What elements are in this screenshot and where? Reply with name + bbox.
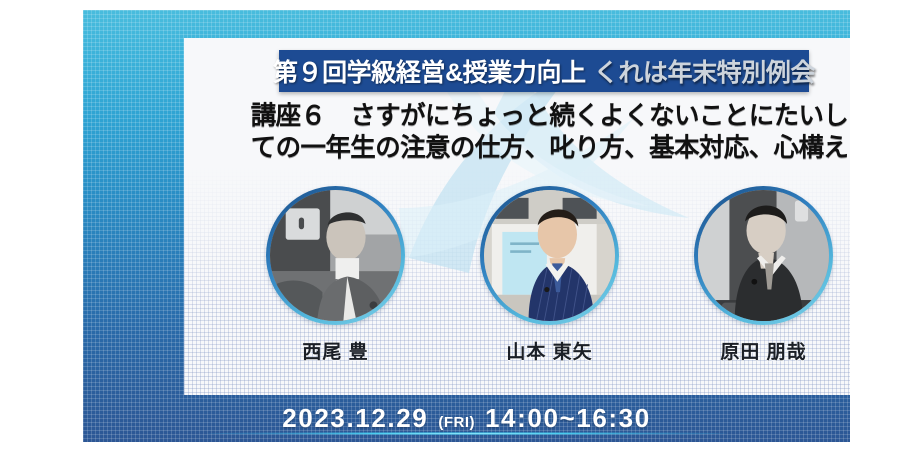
speaker-photo-ring-3 xyxy=(694,186,833,325)
speaker-name-2: 山本 東矢 xyxy=(506,337,592,364)
session-headline-line-1: 講座６ さすがにちょっと続くよくないことにたいし xyxy=(192,100,850,132)
speaker-photo-ring-1 xyxy=(266,186,405,325)
speaker-name-1: 西尾 豊 xyxy=(302,337,368,364)
session-headline: 講座６ さすがにちょっと続くよくないことにたいし ての一年生の注意の仕方、叱り方… xyxy=(184,100,850,165)
speaker-photo-1 xyxy=(270,190,401,321)
speaker-list: 西尾 豊 xyxy=(184,186,850,364)
speaker-name-3: 原田 朋哉 xyxy=(720,337,806,364)
schedule-time: 14:00~16:30 xyxy=(485,403,651,434)
event-title-sub: くれは年末特別例会 xyxy=(594,53,815,89)
speaker-card-2: 山本 東矢 xyxy=(476,186,624,364)
content-panel: 第９回学級経営&授業力向上 くれは年末特別例会 講座６ さすがにちょっと続くよく… xyxy=(184,38,850,395)
speaker-card-1: 西尾 豊 xyxy=(262,186,410,364)
speaker-card-3: 原田 朋哉 xyxy=(690,186,838,364)
speaker-photo-3 xyxy=(698,190,829,321)
speaker-photo-ring-2 xyxy=(480,186,619,325)
schedule-weekday: (FRI) xyxy=(438,414,475,431)
event-title-ribbon: 第９回学級経営&授業力向上 くれは年末特別例会 xyxy=(279,50,809,92)
schedule-date: 2023.12.29 xyxy=(282,403,428,434)
speaker-photo-2 xyxy=(484,190,615,321)
schedule-band: 2023.12.29 (FRI) 14:00~16:30 xyxy=(83,395,850,442)
poster-frame: 第９回学級経営&授業力向上 くれは年末特別例会 講座６ さすがにちょっと続くよく… xyxy=(83,10,850,442)
poster-stage: 第９回学級経営&授業力向上 くれは年末特別例会 講座６ さすがにちょっと続くよく… xyxy=(0,0,920,450)
session-headline-line-2: ての一年生の注意の仕方、叱り方、基本対応、心構え xyxy=(192,132,850,164)
schedule-line: 2023.12.29 (FRI) 14:00~16:30 xyxy=(282,403,651,434)
event-title-main: 第９回学級経営&授業力向上 xyxy=(273,53,586,89)
